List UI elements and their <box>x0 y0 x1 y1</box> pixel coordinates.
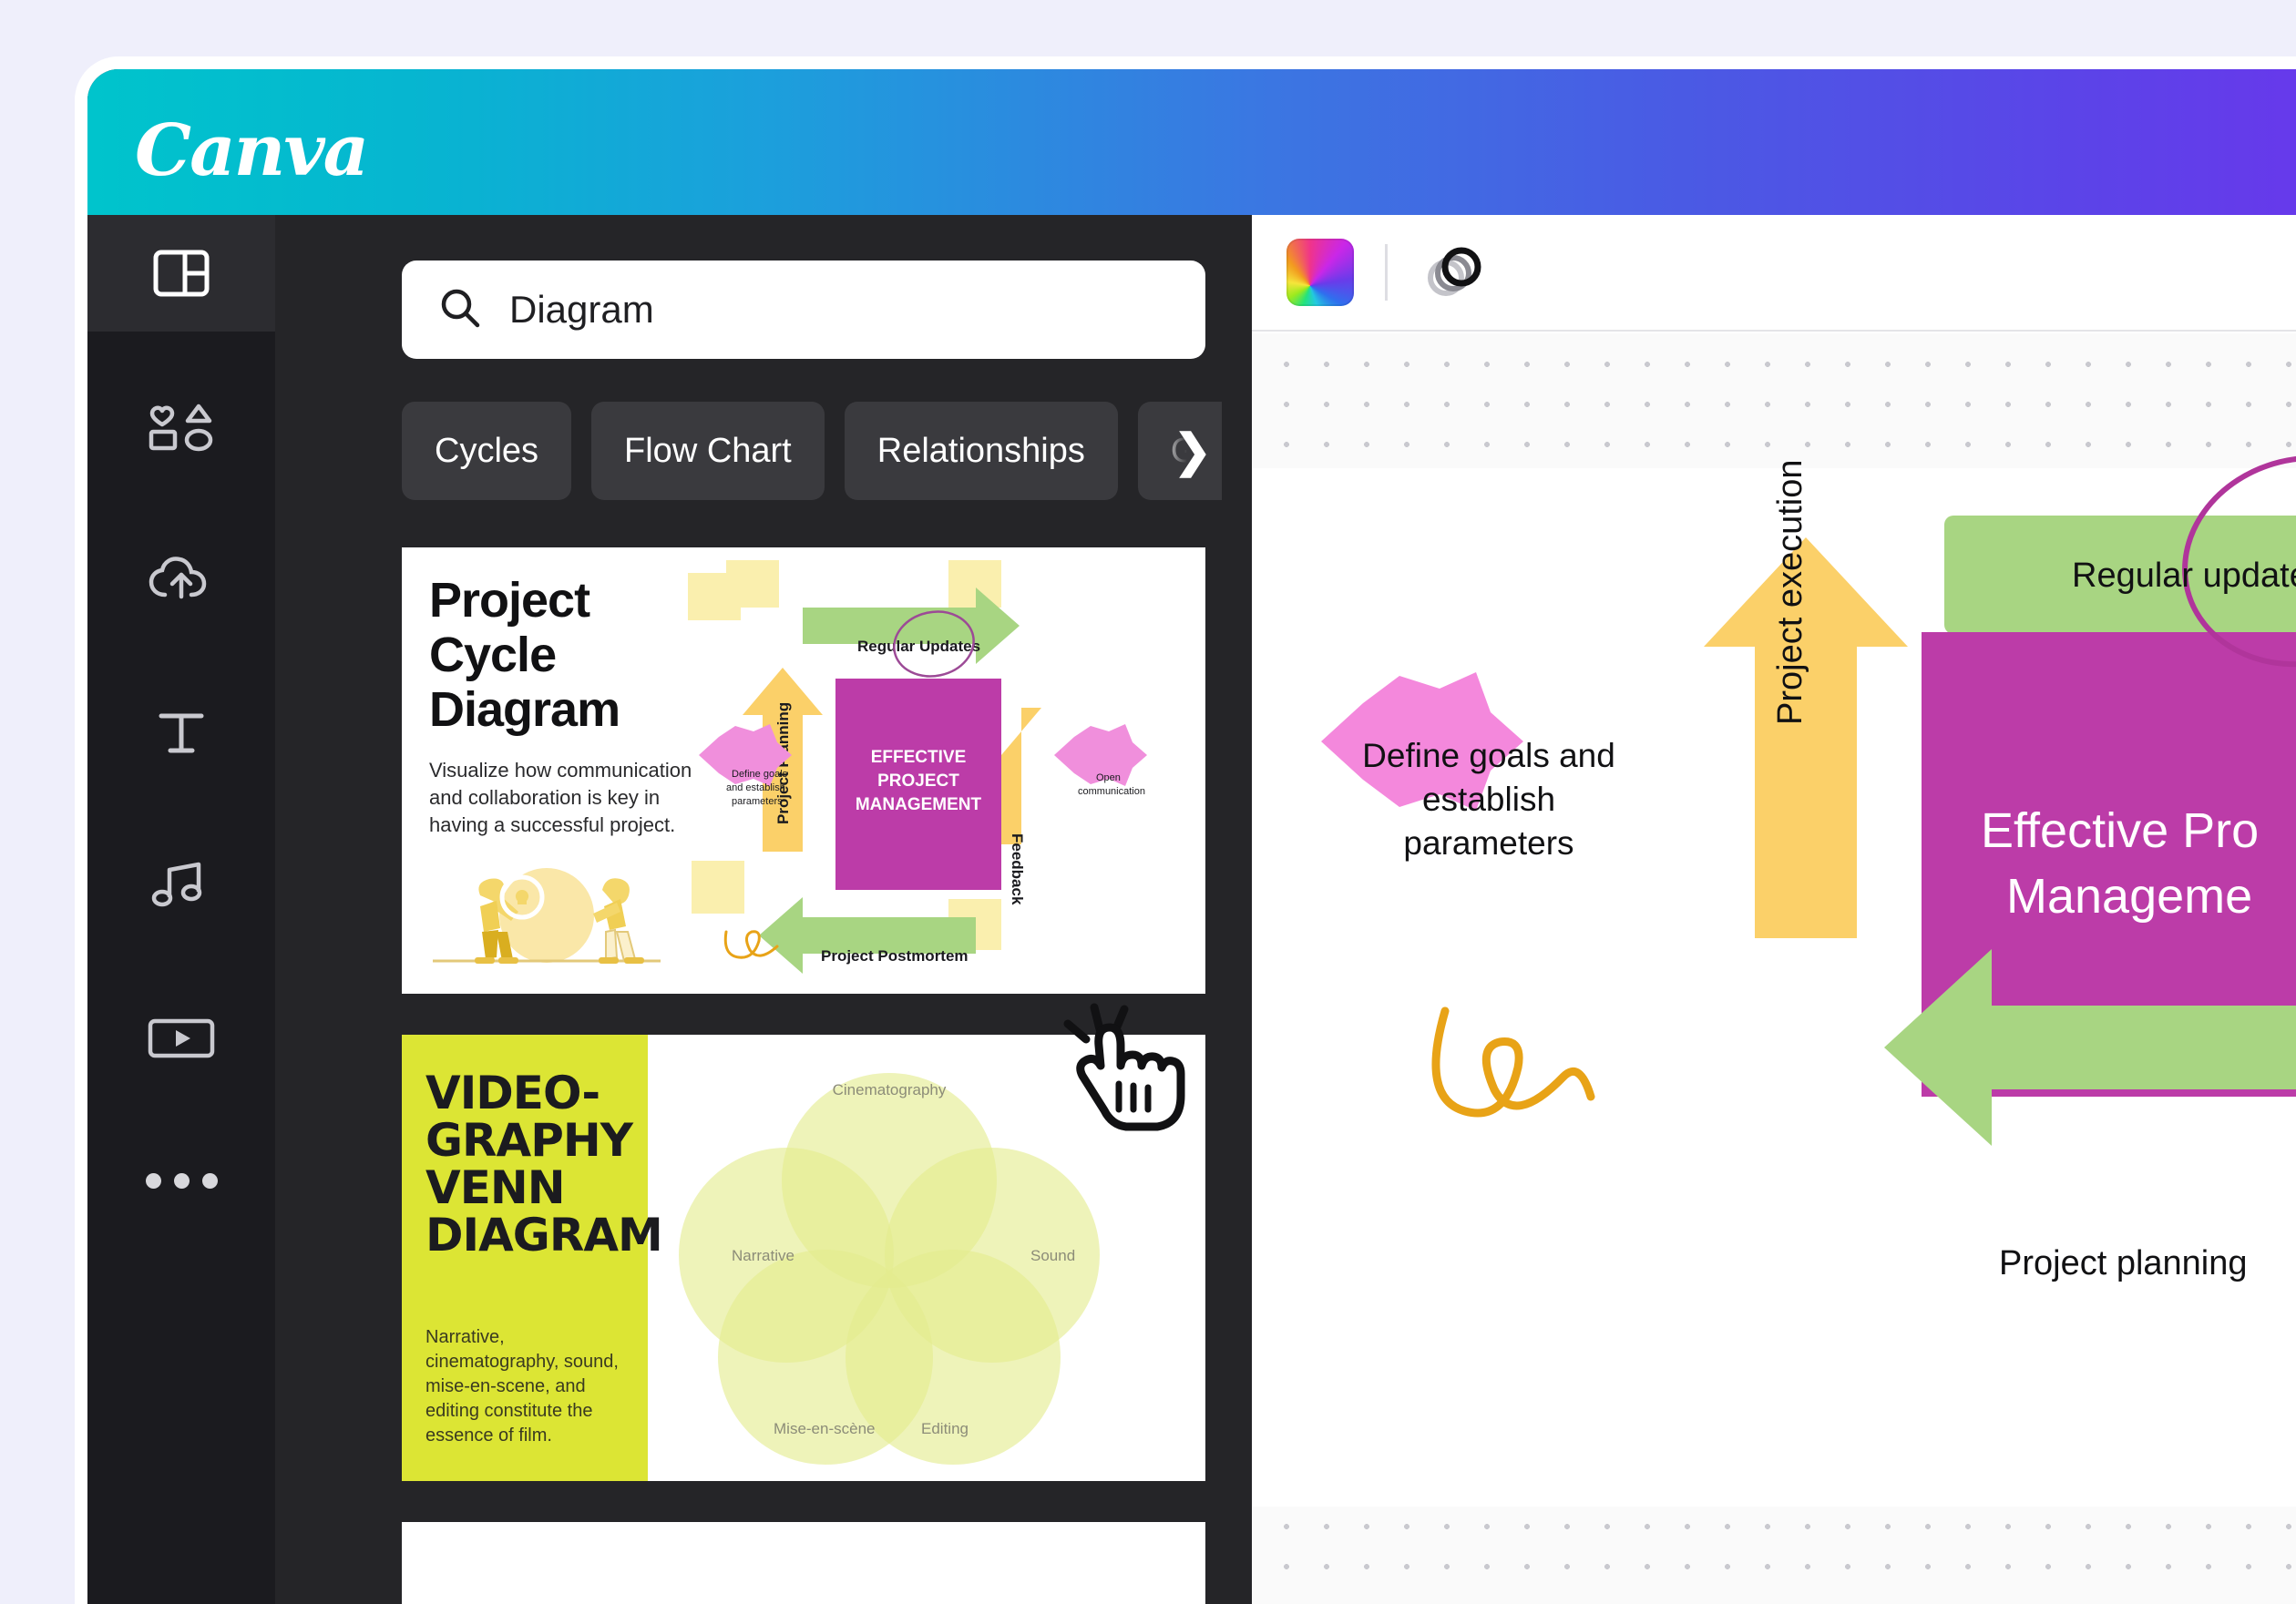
template-card-project-cycle-diagram[interactable]: Project Cycle Diagram Visualize how comm… <box>402 547 1205 994</box>
sidebar-more-button[interactable] <box>87 1126 275 1235</box>
search-icon <box>438 286 482 334</box>
svg-text:and establish: and establish <box>726 782 785 793</box>
sidebar-item-videos[interactable] <box>87 980 275 1097</box>
rainbow-color-swatch[interactable] <box>1286 239 1354 306</box>
canvas-label-project-execution[interactable]: Project execution <box>1771 460 1810 726</box>
dot-1 <box>146 1173 161 1189</box>
template-1-title: Project Cycle Diagram <box>429 573 702 737</box>
cloud-upload-icon <box>147 555 216 604</box>
sidebar-item-elements[interactable] <box>87 368 275 485</box>
text-t-icon <box>154 705 209 760</box>
dot-3 <box>202 1173 218 1189</box>
canvas-label-define-goals[interactable]: Define goals and establish parameters <box>1352 734 1625 865</box>
chevron-right-icon[interactable]: ❯ <box>1158 402 1222 500</box>
svg-text:EFFECTIVE: EFFECTIVE <box>871 748 967 767</box>
svg-text:Feedback: Feedback <box>1009 833 1026 905</box>
template-2-band: VIDEO-GRAPHY VENN DIAGRAM Narrative, cin… <box>402 1035 648 1481</box>
canva-app-window: Canva <box>87 69 2296 1604</box>
shapes-icon <box>147 401 216 452</box>
svg-text:Sound: Sound <box>1030 1247 1075 1264</box>
transparency-icon[interactable] <box>1419 236 1488 310</box>
template-card-third[interactable] <box>402 1522 1205 1604</box>
svg-text:Cinematography: Cinematography <box>833 1081 947 1098</box>
pointing-hand-cursor <box>1051 989 1188 1139</box>
chip-flow-chart[interactable]: Flow Chart <box>591 402 825 500</box>
templates-side-panel: Diagram Cycles Flow Chart Relationships … <box>275 215 1252 1604</box>
svg-text:parameters: parameters <box>732 796 783 807</box>
search-value: Diagram <box>509 288 654 332</box>
sidebar-item-uploads[interactable] <box>87 521 275 638</box>
video-play-icon <box>148 1017 215 1060</box>
sidebar-item-text[interactable] <box>87 674 275 791</box>
svg-text:Editing: Editing <box>921 1420 969 1437</box>
template-1-text-block: Project Cycle Diagram Visualize how comm… <box>429 573 702 839</box>
chip-cycles[interactable]: Cycles <box>402 402 571 500</box>
template-2-title: VIDEO-GRAPHY VENN DIAGRAM <box>425 1069 624 1259</box>
svg-text:communication: communication <box>1078 786 1145 797</box>
canvas-toolbar <box>1252 215 2296 332</box>
canvas-dotted-grid: Regular updates Project execution Define… <box>1252 333 2296 1604</box>
canvas-label-regular-updates[interactable]: Regular updates <box>2072 557 2296 596</box>
sidebar-item-audio[interactable] <box>87 827 275 944</box>
svg-text:MANAGEMENT: MANAGEMENT <box>856 795 982 814</box>
svg-text:Project Postmortem: Project Postmortem <box>821 947 969 965</box>
canvas-label-effective-project-management[interactable]: Effective Pro Manageme <box>1981 798 2296 929</box>
left-icon-rail <box>87 215 275 1604</box>
svg-text:PROJECT: PROJECT <box>877 771 959 791</box>
template-1-diagram-preview: Regular Updates Project Planning Feedbac… <box>675 560 1185 984</box>
design-canvas-area: Regular updates Project execution Define… <box>1252 215 2296 1604</box>
category-chips: Cycles Flow Chart Relationships Graphs T… <box>402 402 1222 500</box>
search-input[interactable]: Diagram <box>402 261 1205 359</box>
toolbar-divider <box>1385 244 1388 301</box>
svg-text:Narrative: Narrative <box>732 1247 794 1264</box>
music-note-icon <box>149 861 213 910</box>
svg-text:Regular Updates: Regular Updates <box>857 638 980 655</box>
chip-relationships[interactable]: Relationships <box>845 402 1118 500</box>
dot-2 <box>174 1173 190 1189</box>
template-2-body: Narrative, cinematography, sound, mise-e… <box>425 1325 628 1448</box>
canvas-label-project-planning[interactable]: Project planning <box>1999 1244 2248 1283</box>
svg-text:Define goals: Define goals <box>732 769 788 780</box>
svg-text:Mise-en-scène: Mise-en-scène <box>774 1420 876 1437</box>
people-pushing-circle-illustration <box>424 850 670 973</box>
venn-diagram-preview: Cinematography Narrative Sound Mise-en-s… <box>675 1044 1103 1476</box>
layout-icon <box>153 250 210 297</box>
template-1-body: Visualize how communication and collabor… <box>429 757 702 839</box>
svg-text:Open: Open <box>1096 772 1121 783</box>
canva-logo: Canva <box>135 109 367 192</box>
app-header: Canva <box>87 69 2296 215</box>
sidebar-item-design-templates[interactable] <box>87 215 275 332</box>
